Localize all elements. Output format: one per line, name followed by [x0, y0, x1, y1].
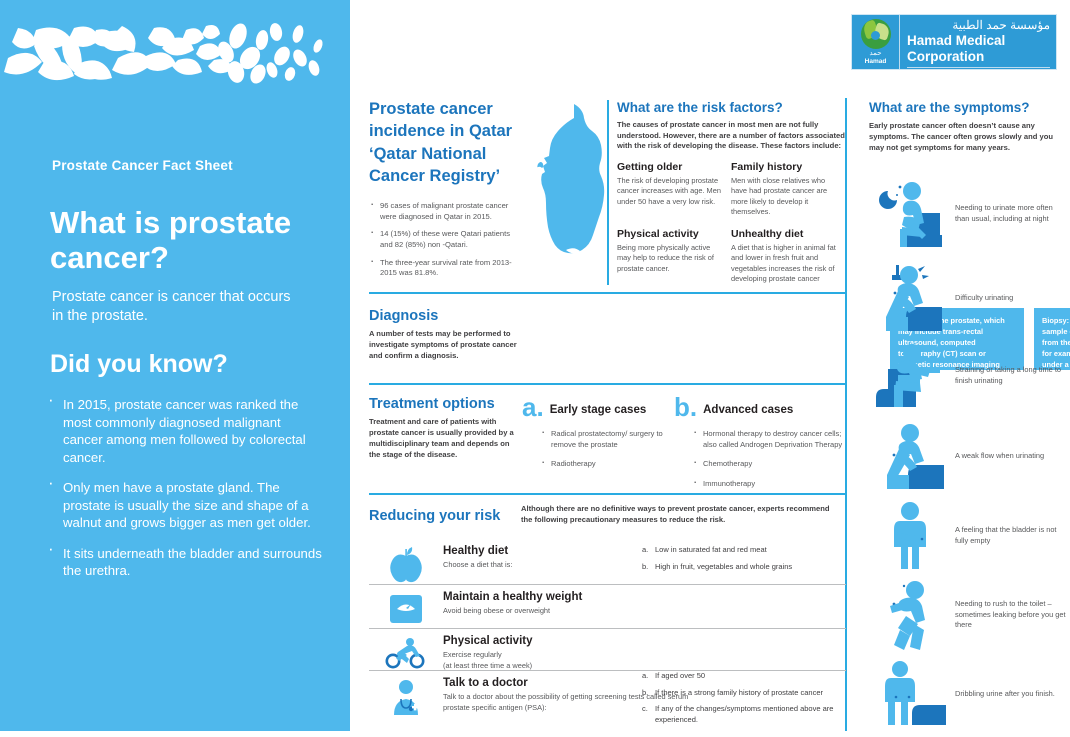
symptom-text: Needing to rush to the toilet – sometime…: [951, 599, 1069, 631]
symptom-item: Needing to urinate more often than usual…: [869, 178, 1069, 250]
reduce-body: Maintain a healthy weight Avoid being ob…: [443, 591, 846, 617]
symptoms-section: What are the symptoms? Early prostate ca…: [869, 100, 1064, 153]
symptom-item: Needing to rush to the toilet – sometime…: [869, 576, 1069, 654]
list-item: a.If aged over 50: [642, 671, 847, 682]
list-marker: c.: [642, 704, 648, 715]
strapline-english: HEALTH · EDUCATION · RESEARCH: [907, 70, 1006, 82]
logo-strapline: HEALTH · EDUCATION · RESEARCH صحة · تعلي…: [907, 67, 1050, 82]
page-title: What is prostate cancer?: [50, 205, 350, 275]
risk-factors-title: What are the risk factors?: [617, 100, 845, 115]
diagnosis-intro: A number of tests may be performed to in…: [369, 328, 517, 361]
night-toilet-icon: [869, 179, 951, 249]
treatment-group-early-stage: a. Early stage cases Radical prostatecto…: [522, 396, 672, 479]
hamad-medical-corporation-logo: حمد Hamad مؤسسة حمد الطبية Hamad Medical…: [851, 14, 1057, 70]
symptom-text: Straining or taking a long time to finis…: [951, 365, 1069, 386]
incidence-bullets: 96 cases of malignant prostate cancer we…: [369, 201, 514, 279]
list-marker: a.: [642, 671, 648, 682]
reduce-row-text: Avoid being obese or overweight: [443, 606, 846, 617]
diagnosis-title: Diagnosis: [369, 308, 517, 324]
treatment-group-advanced: b. Advanced cases Hormonal therapy to de…: [674, 396, 849, 499]
risk-factors-section: What are the risk factors? The causes of…: [617, 100, 845, 295]
risk-factor-item: Unhealthy diet A diet that is higher in …: [731, 228, 845, 285]
divider-above-reduce: [369, 493, 846, 495]
risk-factor-item: Family history Men with close relatives …: [731, 161, 845, 218]
symptom-text: Difficulty urinating: [951, 293, 1069, 304]
treatment-group-letter: b.: [674, 396, 697, 418]
strapline-arabic: صحة · تعليم · بحوث: [1006, 70, 1050, 82]
risk-factor-item: Physical activity Being more physically …: [617, 228, 731, 285]
list-text: High in fruit, vegetables and whole grai…: [655, 562, 792, 571]
dribbling-urine-icon: [869, 661, 951, 727]
treatment-group-list: Hormonal therapy to destroy cancer cells…: [692, 429, 849, 490]
difficulty-urinating-icon: [869, 263, 951, 333]
page-subtitle: Prostate cancer is cancer that occurs in…: [52, 288, 302, 325]
treatment-group-title: Early stage cases: [550, 404, 647, 416]
symptom-text: A feeling that the bladder is not fully …: [951, 525, 1069, 546]
reduce-row-talk-to-doctor: Talk to a doctor Talk to a doctor about …: [369, 670, 846, 737]
apple-icon: [369, 545, 443, 583]
logo-english-name: Hamad Medical Corporation: [907, 33, 1050, 64]
risk-factor-text: Men with close relatives who have had pr…: [731, 176, 839, 218]
reduce-row-healthy-diet: Healthy diet Choose a diet that is: a.Lo…: [369, 539, 846, 590]
left-intro-panel: Prostate Cancer Fact Sheet What is prost…: [0, 0, 350, 731]
symptom-item: Straining or taking a long time to finis…: [869, 340, 1069, 412]
list-item: Radical prostatectomy/ surgery to remove…: [540, 429, 672, 450]
list-item: Only men have a prostate gland. The pros…: [46, 479, 322, 532]
divider-above-diagnosis: [369, 292, 846, 294]
fact-sheet-kicker: Prostate Cancer Fact Sheet: [52, 158, 233, 173]
bladder-not-empty-icon: [869, 501, 951, 571]
reduce-row-title: Maintain a healthy weight: [443, 591, 846, 603]
reduce-row-list: a.If aged over 50 b.If there is a strong…: [642, 671, 847, 732]
list-marker: a.: [642, 545, 648, 556]
logo-mark: حمد Hamad: [852, 15, 899, 69]
risk-factor-title: Getting older: [617, 161, 725, 173]
list-item: In 2015, prostate cancer was ranked the …: [46, 396, 322, 466]
doctor-icon: [369, 677, 443, 717]
list-item: Chemotherapy: [692, 459, 849, 470]
diagnosis-section: Diagnosis A number of tests may be perfo…: [369, 308, 846, 361]
qatar-map-icon: [522, 102, 614, 287]
logo-arabic-name: مؤسسة حمد الطبية: [907, 19, 1050, 32]
divider-above-treatment: [369, 383, 846, 385]
logo-text: مؤسسة حمد الطبية Hamad Medical Corporati…: [899, 15, 1056, 69]
symptom-item: Dribbling urine after you finish.: [869, 660, 1069, 728]
list-text: Low in saturated fat and red meat: [655, 545, 767, 554]
treatment-group-title: Advanced cases: [703, 404, 793, 416]
treatment-intro-block: Treatment options Treatment and care of …: [369, 396, 517, 460]
list-item: 14 (15%) of these were Qatari patients a…: [369, 229, 514, 250]
did-you-know-heading: Did you know?: [50, 350, 228, 379]
straining-toilet-icon: [869, 341, 951, 411]
list-item: It sits underneath the bladder and surro…: [46, 545, 322, 580]
treatment-group-letter: a.: [522, 396, 544, 418]
symptom-item: A feeling that the bladder is not fully …: [869, 500, 1069, 572]
list-item: a.Low in saturated fat and red meat: [642, 545, 847, 556]
list-text: If there is a strong family history of p…: [655, 688, 823, 697]
weight-scale-icon: [369, 591, 443, 625]
symptoms-title: What are the symptoms?: [869, 100, 1064, 115]
risk-factor-title: Family history: [731, 161, 839, 173]
list-item: b.High in fruit, vegetables and whole gr…: [642, 562, 847, 573]
weak-flow-icon: [869, 421, 951, 491]
risk-factor-item: Getting older The risk of developing pro…: [617, 161, 731, 218]
list-item: Radiotherapy: [540, 459, 672, 470]
list-marker: b.: [642, 688, 648, 699]
list-text: If any of the changes/symptoms mentioned…: [655, 704, 833, 724]
risk-factor-text: Being more physically active may help to…: [617, 243, 725, 275]
cyclist-icon: [369, 635, 443, 669]
incidence-title: Prostate cancer incidence in Qatar ‘Qata…: [369, 98, 514, 187]
reduce-row-list: a.Low in saturated fat and red meat b.Hi…: [642, 545, 847, 578]
list-marker: b.: [642, 562, 648, 573]
did-you-know-list: In 2015, prostate cancer was ranked the …: [46, 396, 322, 593]
treatment-group-list: Radical prostatectomy/ surgery to remove…: [540, 429, 672, 470]
treatment-title: Treatment options: [369, 396, 517, 412]
reduce-row-title: Physical activity: [443, 635, 846, 647]
hamad-emblem-icon: [861, 19, 891, 49]
risk-factors-intro: The causes of prostate cancer in most me…: [617, 120, 845, 152]
reduce-row-text: Exercise regularly (at least three time …: [443, 650, 846, 671]
logo-mark-english: Hamad: [865, 58, 887, 65]
leaf-pattern-decoration: [0, 0, 350, 110]
diagnosis-intro-block: Diagnosis A number of tests may be perfo…: [369, 308, 517, 361]
symptoms-intro: Early prostate cancer often doesn’t caus…: [869, 121, 1064, 153]
list-item: The three-year survival rate from 2013-2…: [369, 258, 514, 279]
risk-factor-title: Unhealthy diet: [731, 228, 839, 240]
list-item: b.If there is a strong family history of…: [642, 688, 847, 699]
risk-factor-text: The risk of developing prostate cancer i…: [617, 176, 725, 208]
risk-factor-text: A diet that is higher in animal fat and …: [731, 243, 839, 285]
reducing-risk-title: Reducing your risk: [369, 508, 500, 524]
list-item: 96 cases of malignant prostate cancer we…: [369, 201, 514, 222]
list-text: If aged over 50: [655, 671, 705, 680]
list-item: Hormonal therapy to destroy cancer cells…: [692, 429, 849, 450]
reducing-risk-intro: Although there are no definitive ways to…: [521, 503, 841, 525]
symptom-item: Difficulty urinating: [869, 262, 1069, 334]
list-item: Immunotherapy: [692, 479, 849, 490]
list-item: c.If any of the changes/symptoms mention…: [642, 704, 847, 725]
reduce-body: Physical activity Exercise regularly (at…: [443, 635, 846, 671]
risk-factors-grid: Getting older The risk of developing pro…: [617, 161, 845, 295]
fact-sheet-page: Prostate Cancer Fact Sheet What is prost…: [0, 0, 1070, 731]
symptom-text: Needing to urinate more often than usual…: [951, 203, 1069, 224]
logo-mark-arabic: حمد: [869, 50, 881, 58]
symptom-item: A weak flow when urinating: [869, 420, 1069, 492]
risk-factor-title: Physical activity: [617, 228, 725, 240]
symptom-text: A weak flow when urinating: [951, 451, 1069, 462]
rushing-to-toilet-icon: [869, 578, 951, 652]
treatment-intro: Treatment and care of patients with pros…: [369, 416, 517, 460]
symptom-text: Dribbling urine after you finish.: [951, 689, 1069, 700]
